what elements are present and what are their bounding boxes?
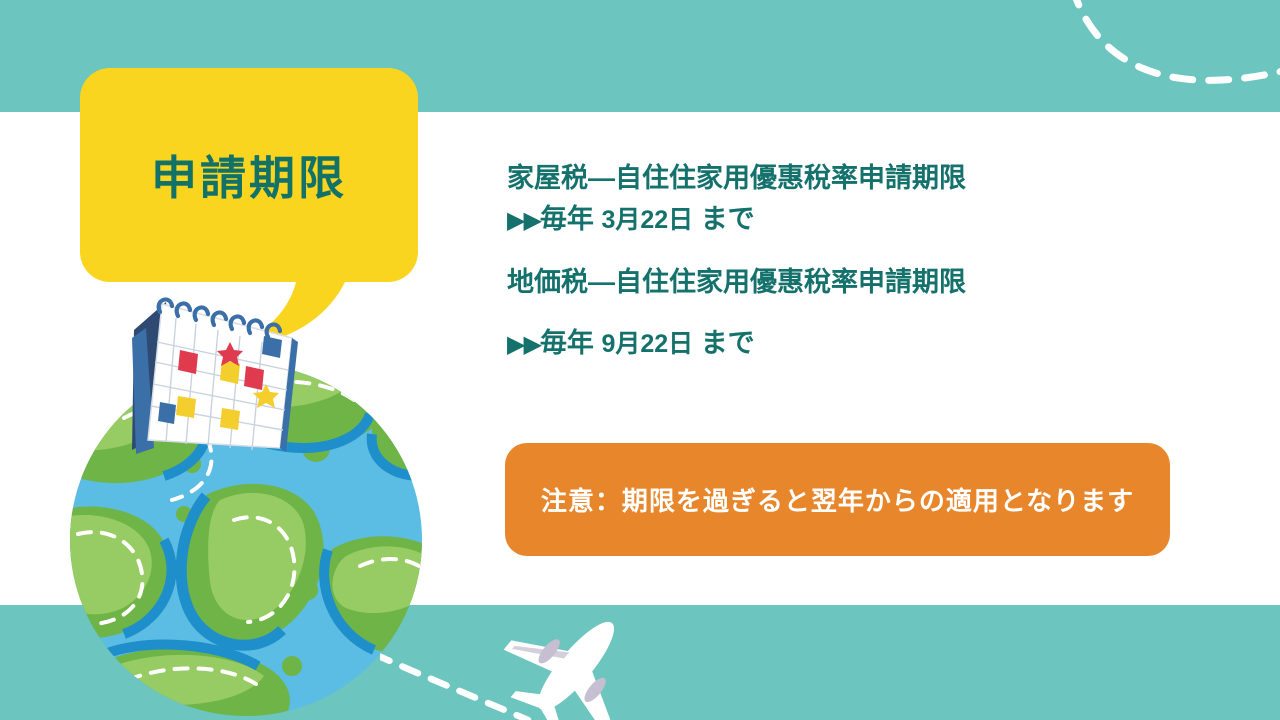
land-tax-deadline: ▶▶毎年 9月22日 まで	[507, 330, 1147, 357]
house-tax-deadline: ▶▶毎年 3月22日 まで	[507, 206, 1147, 233]
double-arrow-icon: ▶▶	[507, 207, 540, 234]
notice-banner: 注意：期限を過ぎると翌年からの適用となります	[505, 443, 1170, 556]
slide-canvas: 申請期限	[0, 0, 1280, 720]
deadline-text-block: 家屋税—自住住家用優惠稅率申請期限 ▶▶毎年 3月22日 まで 地価税—自住住家…	[507, 165, 1147, 357]
house-tax-heading: 家屋税—自住住家用優惠稅率申請期限	[507, 165, 1147, 192]
land-tax-deadline-prefix: 毎年	[540, 328, 594, 358]
page-title: 申請期限	[80, 68, 418, 282]
house-tax-deadline-prefix: 毎年	[540, 204, 594, 234]
land-tax-heading: 地価税—自住住家用優惠稅率申請期限	[507, 269, 1147, 296]
land-tax-deadline-date: 9月22日	[601, 330, 693, 358]
double-arrow-icon: ▶▶	[507, 331, 540, 358]
notice-banner-text: 注意：期限を過ぎると翌年からの適用となります	[541, 481, 1134, 518]
house-tax-deadline-date: 3月22日	[601, 206, 693, 234]
globe-illustration	[68, 288, 428, 720]
desk-calendar-icon	[132, 299, 298, 454]
house-tax-deadline-suffix: まで	[701, 204, 755, 234]
land-tax-deadline-suffix: まで	[701, 328, 755, 358]
